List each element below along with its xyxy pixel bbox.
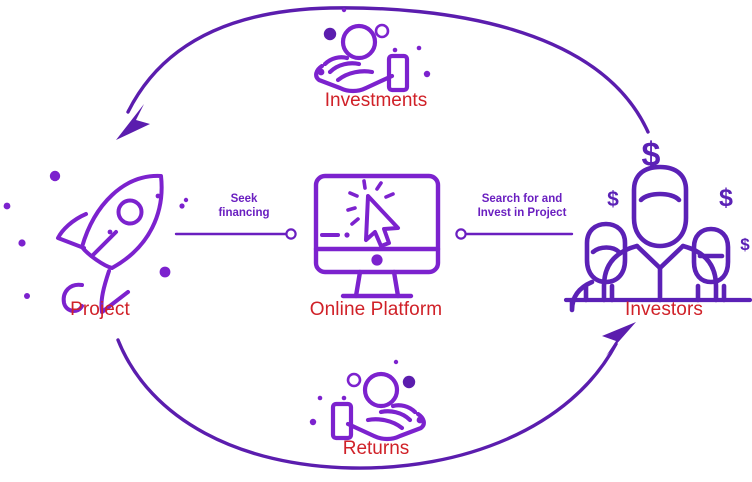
arc-label-investments: Investments	[290, 90, 462, 112]
rocket-icon	[58, 176, 162, 312]
node-label-online-platform: Online Platform	[288, 299, 464, 321]
diagram-svg: $ $ $ $	[0, 0, 752, 482]
arc-label-returns: Returns	[290, 438, 462, 460]
connector-label-seek-financing: Seek financing	[196, 193, 292, 220]
connector-label-line2: financing	[196, 207, 292, 221]
node-label-project: Project	[18, 299, 182, 321]
connector-seek-financing	[176, 229, 296, 238]
svg-text:$: $	[642, 136, 661, 174]
cursor-arrow-icon	[348, 181, 398, 246]
diagram-canvas: $ $ $ $	[0, 0, 752, 482]
svg-text:$: $	[719, 184, 733, 212]
connector-label-line2: Invest in Project	[458, 207, 586, 221]
connector-label-search-invest: Search for and Invest in Project	[458, 193, 586, 220]
node-label-investors: Investors	[578, 299, 750, 321]
svg-text:$: $	[740, 235, 750, 254]
svg-text:$: $	[607, 188, 619, 211]
connector-label-line1: Seek	[196, 193, 292, 207]
connector-search-invest	[456, 229, 572, 238]
arc-investments	[116, 8, 648, 140]
connector-label-line1: Search for and	[458, 193, 586, 207]
